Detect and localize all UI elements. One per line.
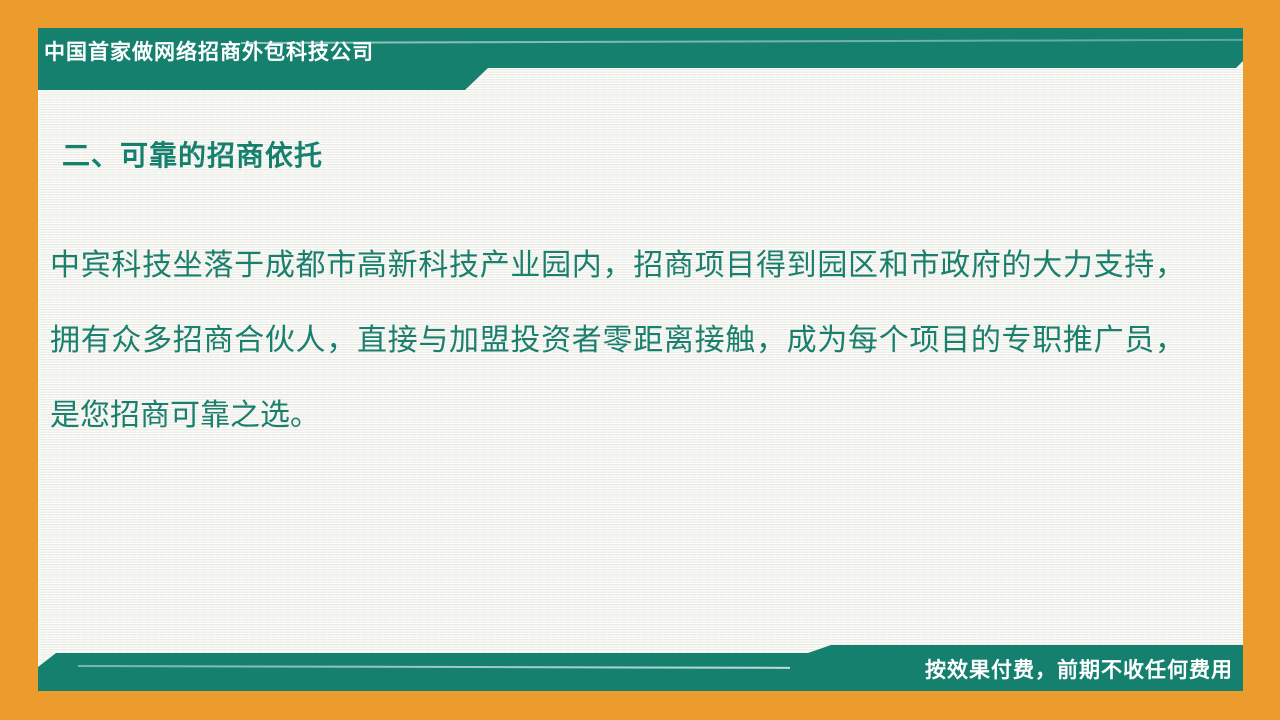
presentation-slide: 中国首家做网络招商外包科技公司 二、可靠的招商依托 中宾科技坐落于成都市高新科技… <box>0 0 1280 720</box>
section-heading: 二、可靠的招商依托 <box>62 134 323 174</box>
body-paragraph: 中宾科技坐落于成都市高新科技产业园内，招商项目得到园区和市政府的大力支持，拥有众… <box>50 228 1185 453</box>
footer-hairline-divider <box>78 665 790 669</box>
header-title: 中国首家做网络招商外包科技公司 <box>44 38 564 68</box>
footer-tagline: 按效果付费，前期不收任何费用 <box>925 653 1233 689</box>
